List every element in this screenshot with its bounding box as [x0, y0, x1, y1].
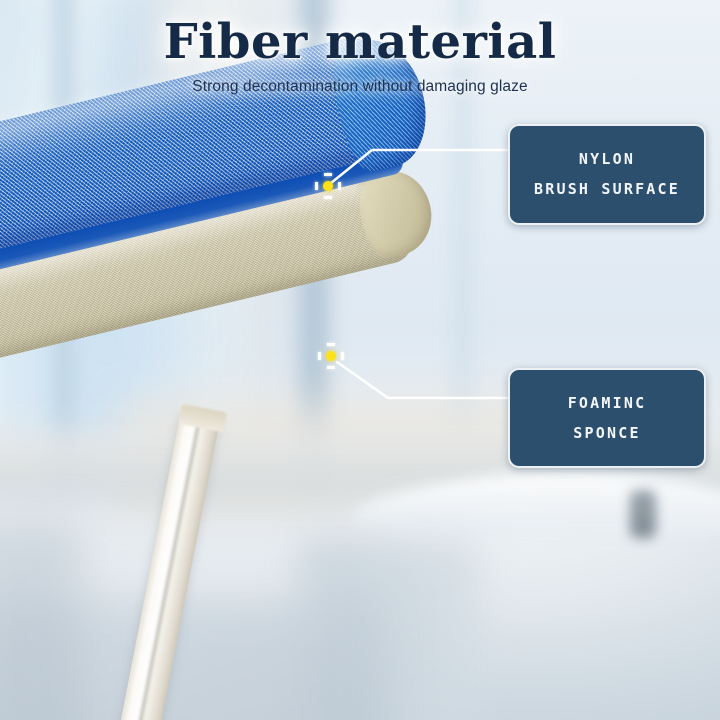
- product-infographic: Fiber material Strong decontamination wi…: [0, 0, 720, 720]
- crosshair-bracket-top: [327, 343, 335, 346]
- crosshair-bracket-bottom: [327, 366, 335, 369]
- faucet-icon: [630, 490, 656, 538]
- callout-line-1: FOAMINC: [568, 396, 647, 411]
- crosshair-bracket-left: [315, 182, 318, 190]
- crosshair-bracket-left: [318, 352, 321, 360]
- marker-dot-nylon: [323, 181, 333, 191]
- page-subtitle: Strong decontamination without damaging …: [0, 78, 720, 96]
- crosshair-target-icon-nylon[interactable]: [315, 173, 341, 199]
- callout-line-1: NYLON: [579, 152, 635, 167]
- marker-dot-sponge: [326, 351, 336, 361]
- crosshair-target-icon-sponge[interactable]: [318, 343, 344, 369]
- callout-foaming-sponge[interactable]: FOAMINC SPONCE: [508, 368, 706, 468]
- crosshair-bracket-bottom: [324, 196, 332, 199]
- crosshair-bracket-right: [341, 352, 344, 360]
- page-title: Fiber material: [0, 14, 720, 70]
- crosshair-bracket-right: [338, 182, 341, 190]
- callout-nylon-brush-surface[interactable]: NYLON BRUSH SURFACE: [508, 124, 706, 225]
- callout-line-2: BRUSH SURFACE: [534, 182, 680, 197]
- crosshair-bracket-top: [324, 173, 332, 176]
- cleaning-sponge-brush: [0, 150, 520, 630]
- callout-line-2: SPONCE: [573, 426, 640, 441]
